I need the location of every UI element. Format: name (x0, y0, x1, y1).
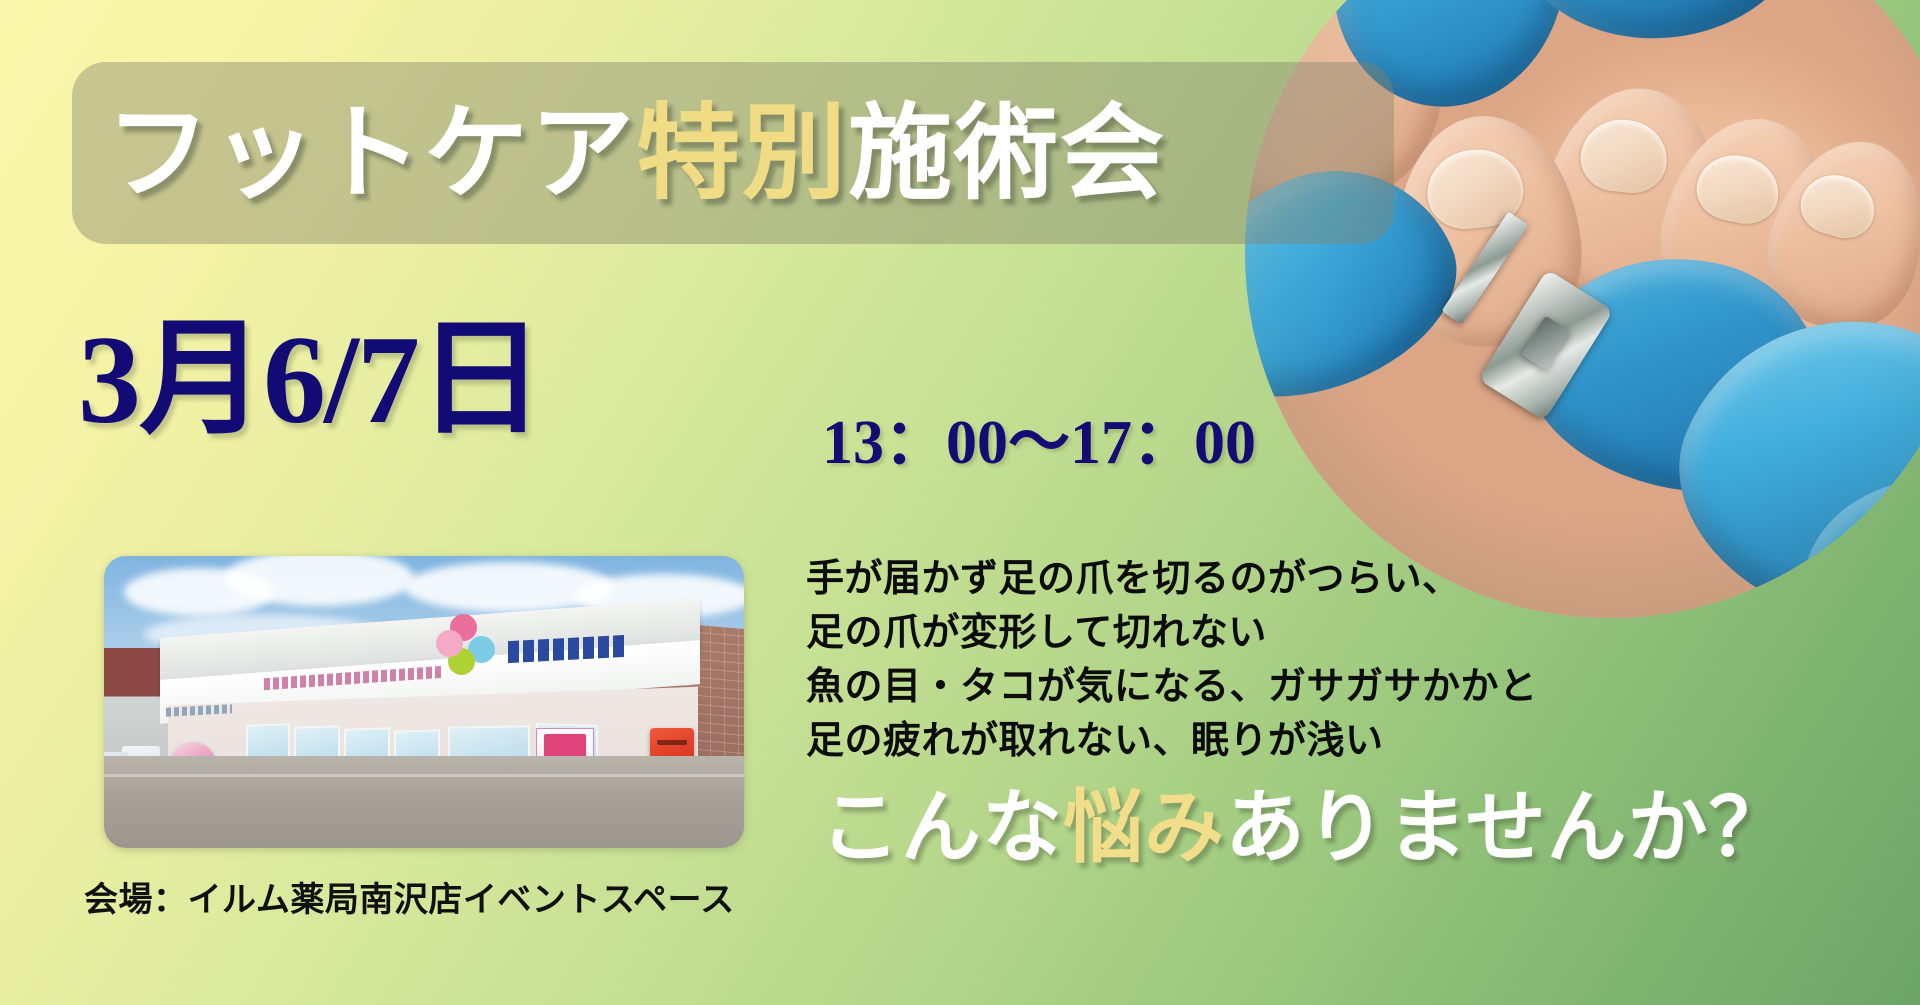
problem-line: 手が届かず足の爪を切るのがつらい、 (806, 552, 1806, 606)
problem-line: 足の疲れが取れない、眠りが浅い (806, 714, 1806, 768)
curb-line (104, 774, 744, 777)
event-time: 13：00～17：00 (822, 412, 1256, 474)
tagline-part2: ありませんか？ (1225, 781, 1790, 874)
event-date: 3月6/7日 (78, 318, 542, 444)
problem-line: 足の爪が変形して切れない (806, 606, 1806, 660)
tagline-highlight: 悩み (1063, 781, 1225, 874)
title-part1: フットケア (106, 96, 636, 210)
tagline-part1: こんな (820, 781, 1063, 874)
venue-caption: 会場：イルム薬局南沢店イベントスペース (84, 880, 735, 921)
page-title: フットケア特別施術会 (106, 78, 1426, 228)
title-highlight: 特別 (636, 96, 848, 210)
parking-lot-ground (104, 756, 744, 848)
problem-list: 手が届かず足の爪を切るのがつらい、 足の爪が変形して切れない 魚の目・タコが気に… (806, 552, 1806, 768)
store-logo-icon (438, 614, 496, 676)
store-photo (104, 556, 744, 848)
title-part2: 施術会 (848, 96, 1166, 210)
problem-line: 魚の目・タコが気になる、ガサガサかかと (806, 660, 1806, 714)
tagline: こんな悩みありませんか？ (820, 784, 1790, 872)
mailbox-slot (657, 740, 687, 745)
